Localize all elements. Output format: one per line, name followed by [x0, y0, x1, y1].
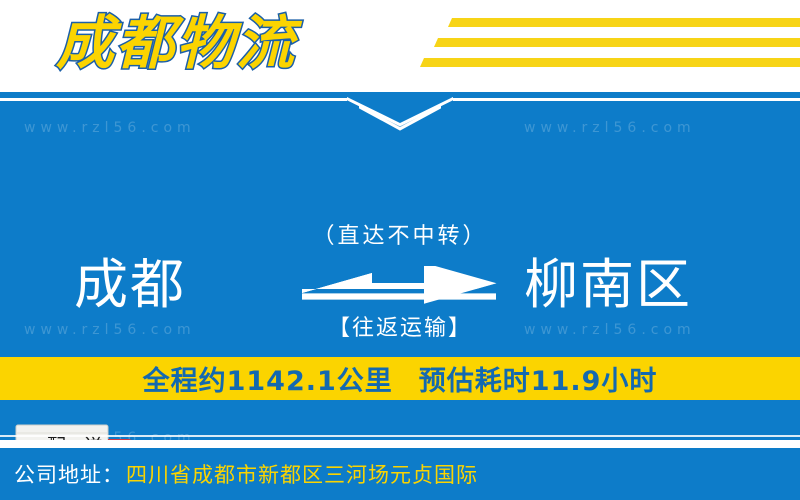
origin-city: 成都: [74, 254, 186, 316]
bottom-divider: [0, 435, 800, 437]
stripe-3: [420, 58, 800, 67]
transit-info: （直达不中转）: [270, 222, 530, 344]
decorative-stripes: [420, 14, 800, 80]
divider-left: [0, 98, 347, 101]
banner-header: 成都物流: [0, 0, 800, 92]
top-divider: [0, 98, 800, 132]
chevron-down-icon: [347, 97, 453, 131]
page-title: 成都物流: [56, 6, 296, 80]
watermark: www.rzl56.com: [24, 322, 196, 338]
estimated-duration: 预估耗时11.9小时: [419, 366, 658, 397]
direct-note: （直达不中转）: [270, 222, 530, 252]
destination-city: 柳南区: [524, 254, 692, 316]
divider-right: [453, 98, 800, 101]
address-label: 公司地址：: [14, 459, 124, 489]
logistics-banner: 成都物流 www.rzl56.com www.rzl56.com www.rzl…: [0, 0, 800, 500]
company-address: 四川省成都市新都区三河场元贞国际: [126, 459, 478, 489]
stripe-1: [448, 18, 800, 27]
banner-footer: 公司地址： 四川省成都市新都区三河场元贞国际: [0, 448, 800, 500]
roundtrip-note: 【往返运输】: [270, 314, 530, 344]
bidirectional-arrow-icon: [270, 266, 530, 310]
banner-body: www.rzl56.com www.rzl56.com www.rzl56.co…: [0, 92, 800, 440]
distance-summary: 全程约1142.1公里预估耗时11.9小时: [143, 359, 658, 398]
stripe-2: [434, 38, 800, 47]
total-distance: 全程约1142.1公里: [143, 366, 393, 397]
watermark: www.rzl56.com: [524, 322, 696, 338]
distance-bar: 全程约1142.1公里预估耗时11.9小时: [0, 357, 800, 400]
